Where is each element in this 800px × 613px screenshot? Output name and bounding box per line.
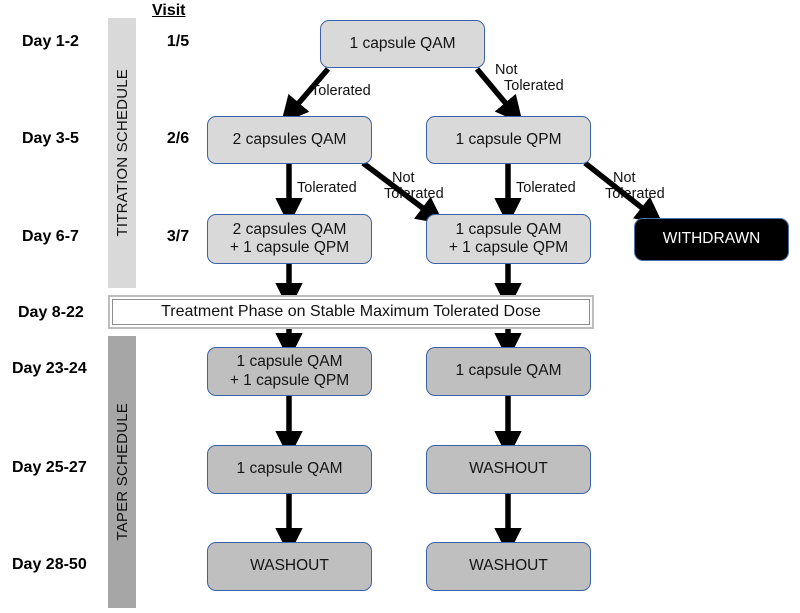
taper-schedule-bar: TAPER SCHEDULE <box>108 336 136 608</box>
node-line-1: 2 capsules QAM <box>233 131 347 149</box>
node-taper-washout-left[interactable]: WASHOUT <box>207 542 372 591</box>
node-line-1: WITHDRAWN <box>663 230 761 248</box>
edge-label-line-1: Not <box>613 170 665 186</box>
node-line-1: 1 capsule QAM <box>237 460 343 478</box>
node-1-capsule-qam-plus-1-qpm[interactable]: 1 capsule QAM + 1 capsule QPM <box>426 214 591 264</box>
node-line-2: + 1 capsule QPM <box>449 239 568 257</box>
edge-label-not-tolerated-3: Not Tolerated <box>613 170 665 202</box>
treatment-phase-bar[interactable]: Treatment Phase on Stable Maximum Tolera… <box>108 295 594 329</box>
day-label-1-2: Day 1-2 <box>22 33 79 51</box>
titration-schedule-label: TITRATION SCHEDULE <box>114 69 131 237</box>
node-line-2: + 1 capsule QPM <box>230 372 349 390</box>
edge-label-line-1: Not <box>392 170 444 186</box>
flowchart-canvas: Day 1-2 Day 3-5 Day 6-7 Day 8-22 Day 23-… <box>0 0 800 613</box>
node-taper-1-capsule-qam-plus-1-qpm[interactable]: 1 capsule QAM + 1 capsule QPM <box>207 347 372 396</box>
node-line-1: 1 capsule QPM <box>456 131 562 149</box>
edge-label-line-2: Tolerated <box>384 186 444 202</box>
edge-label-tolerated-2: Tolerated <box>297 180 357 196</box>
node-taper-washout-right-upper[interactable]: WASHOUT <box>426 445 591 494</box>
node-line-1: WASHOUT <box>469 557 548 575</box>
node-2-capsules-qam[interactable]: 2 capsules QAM <box>207 116 372 164</box>
node-line-2: + 1 capsule QPM <box>230 239 349 257</box>
edge-label-tolerated-1: Tolerated <box>311 83 371 99</box>
node-2-capsules-qam-plus-1-qpm[interactable]: 2 capsules QAM + 1 capsule QPM <box>207 214 372 264</box>
node-line-1: WASHOUT <box>469 460 548 478</box>
node-taper-washout-right[interactable]: WASHOUT <box>426 542 591 591</box>
node-line-1: WASHOUT <box>250 557 329 575</box>
day-label-28-50: Day 28-50 <box>12 556 87 574</box>
edge-label-line-1: Tolerated <box>516 180 576 196</box>
day-label-23-24: Day 23-24 <box>12 360 87 378</box>
node-taper-1-capsule-qam[interactable]: 1 capsule QAM <box>426 347 591 396</box>
node-line-1: 1 capsule QAM <box>456 362 562 380</box>
edge-label-line-2: Tolerated <box>605 186 665 202</box>
visit-number-2-6: 2/6 <box>155 130 201 148</box>
node-1-capsule-qam[interactable]: 1 capsule QAM <box>320 20 485 68</box>
node-1-capsule-qpm[interactable]: 1 capsule QPM <box>426 116 591 164</box>
edge-label-line-1: Not <box>495 62 564 78</box>
day-label-8-22: Day 8-22 <box>18 304 84 322</box>
titration-schedule-bar: TITRATION SCHEDULE <box>108 18 136 288</box>
node-line-1: 2 capsules QAM <box>233 221 347 239</box>
node-withdrawn[interactable]: WITHDRAWN <box>634 218 789 261</box>
edge-label-not-tolerated-2: Not Tolerated <box>392 170 444 202</box>
node-line-1: 1 capsule QAM <box>237 353 343 371</box>
day-label-6-7: Day 6-7 <box>22 228 79 246</box>
edge-label-line-1: Tolerated <box>311 83 371 99</box>
node-line-1: 1 capsule QAM <box>456 221 562 239</box>
edge-label-tolerated-3: Tolerated <box>516 180 576 196</box>
edge-label-line-1: Tolerated <box>297 180 357 196</box>
node-taper-1-capsule-qam-second[interactable]: 1 capsule QAM <box>207 445 372 494</box>
edge-label-line-2: Tolerated <box>504 78 564 94</box>
visit-number-1-5: 1/5 <box>155 33 201 51</box>
visit-column-header: Visit <box>152 2 186 20</box>
edge-label-not-tolerated-1: Not Tolerated <box>495 62 564 94</box>
day-label-25-27: Day 25-27 <box>12 459 87 477</box>
node-line-1: 1 capsule QAM <box>350 35 456 53</box>
taper-schedule-label: TAPER SCHEDULE <box>114 403 131 541</box>
visit-number-3-7: 3/7 <box>155 228 201 246</box>
day-label-3-5: Day 3-5 <box>22 130 79 148</box>
treatment-phase-label: Treatment Phase on Stable Maximum Tolera… <box>112 299 590 325</box>
